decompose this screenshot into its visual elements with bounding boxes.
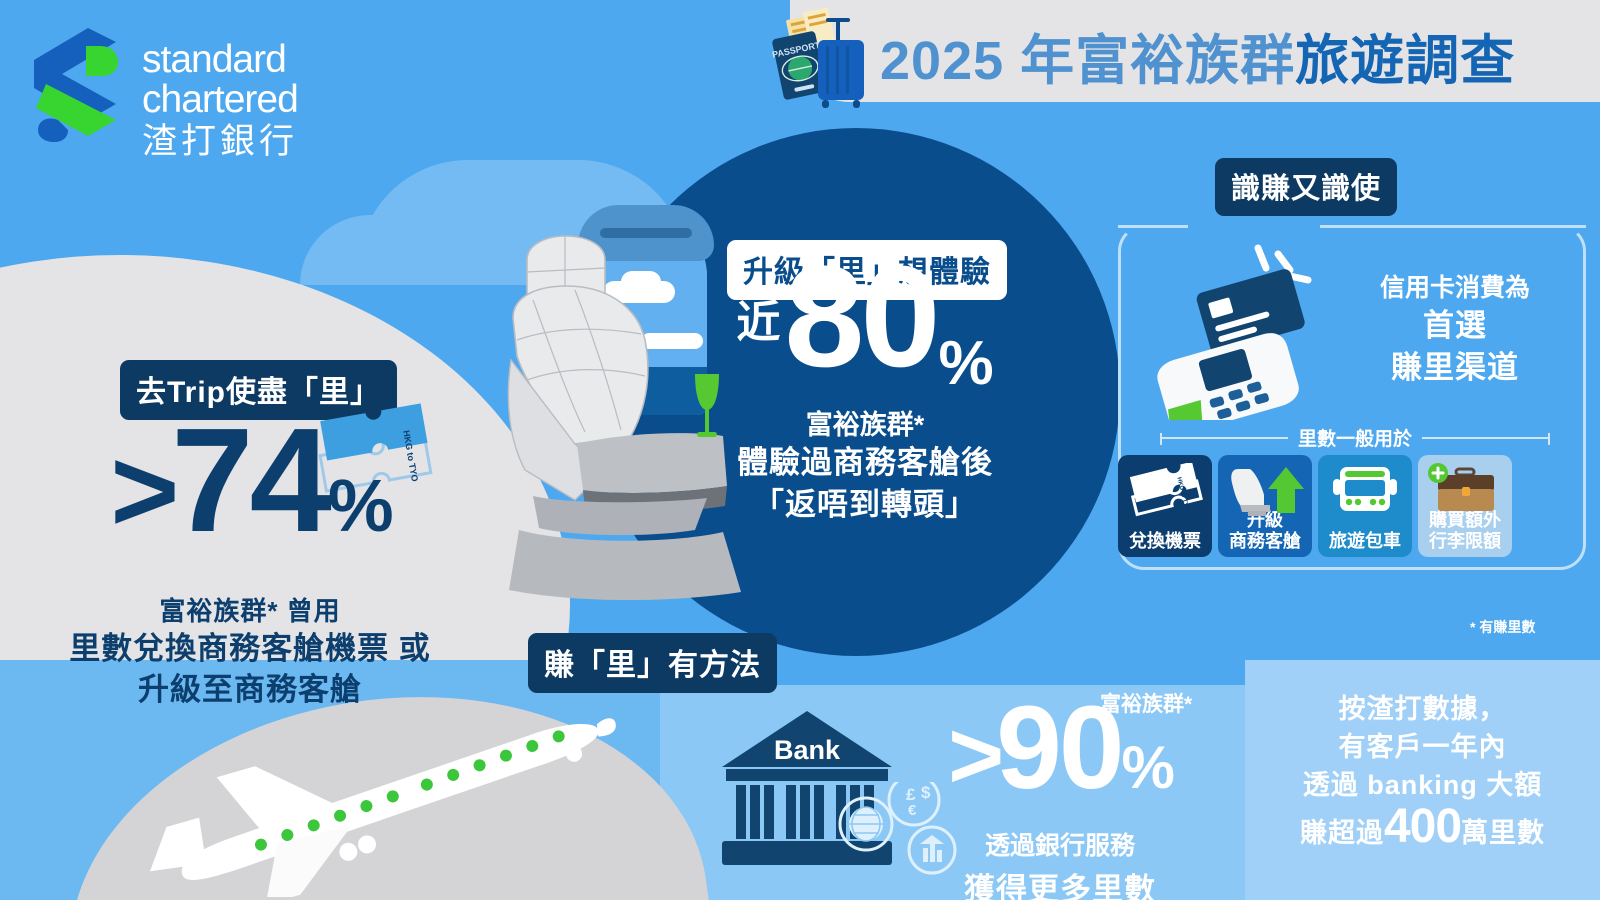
panel-top-border-right (1320, 225, 1586, 228)
right-text-line2: 首選 (1330, 305, 1580, 347)
divider-line-right (1422, 437, 1550, 439)
bottom-right-line3: 透過 banking 大額 (1250, 766, 1595, 804)
brand-logo: standard chartered 渣打銀行 (28, 24, 298, 164)
center-caption-line2: 體驗過商務客艙後 (700, 442, 1030, 484)
center-stat-number: 80 (784, 242, 936, 392)
card-seat-upgrade[interactable]: 升級 商務客艙 (1218, 455, 1312, 557)
left-stat-unit: % (328, 464, 390, 547)
left-caption-line3: 升級至商務客艙 (30, 669, 470, 710)
left-caption-line2: 里數兌換商務客艙機票 或 (30, 628, 470, 669)
card-label-line2: 商務客艙 (1229, 531, 1301, 552)
bottom-center-badge: 賺「里」有方法 (528, 633, 777, 693)
pos-terminal-icon (1140, 240, 1340, 420)
panel-top-border-left (1118, 225, 1188, 228)
center-stat-prefix: 近 (736, 286, 780, 350)
brand-name-line1: standard (142, 40, 298, 80)
bottom-caption-line1: 透過銀行服務 (900, 826, 1220, 862)
bottom-stat-number: 90 (996, 682, 1121, 814)
brand-wordmark: standard chartered 渣打銀行 (142, 24, 298, 164)
card-label-line2: 行李限額 (1429, 531, 1501, 552)
divider-line-left (1160, 437, 1288, 439)
bottom-right-line4: 賺超過400萬里數 (1250, 804, 1595, 856)
page-title-bold: 旅遊調查 (1295, 16, 1515, 95)
flight-ticket-icon: HKG to TYO (1118, 463, 1212, 517)
card-label-line1: 兌換機票 (1129, 531, 1201, 552)
page-title-regular: 2025 年富裕族群 (880, 16, 1295, 95)
center-stat-unit: % (939, 328, 994, 399)
center-caption-line3: 「返唔到轉頭」 (700, 484, 1030, 526)
miles-usage-label: 里數一般用於 (1160, 424, 1550, 451)
miles-usage-text: 里數一般用於 (1298, 424, 1412, 451)
miles-usage-cards: HKG to TYO 兌換機票 升級 商務客艙 (1118, 455, 1512, 557)
right-panel-text: 信用卡消費為 首選 賺里渠道 (1330, 272, 1580, 389)
right-text-line3: 賺里渠道 (1330, 347, 1580, 389)
brand-name-line2: chartered (142, 80, 298, 120)
bottom-right-text: 按渣打數據， 有客戶一年內 透過 banking 大額 賺超過400萬里數 (1250, 690, 1595, 856)
bottom-right-line2: 有客戶一年內 (1250, 728, 1595, 766)
standard-chartered-chevron-logo (28, 24, 120, 144)
center-stat-row: 近 80 % (700, 242, 1030, 399)
extra-baggage-icon (1418, 463, 1512, 517)
center-stat-block: 近 80 % 富裕族群* 體驗過商務客艙後 「返唔到轉頭」 (700, 238, 1030, 526)
brand-name-chinese: 渣打銀行 (142, 120, 298, 164)
left-caption-line1: 富裕族群* 曾用 (30, 591, 470, 628)
airplane-takeoff-icon (110, 712, 630, 897)
left-stat-value: >74% (30, 406, 470, 581)
card-label-line1: 旅遊包車 (1329, 531, 1401, 552)
page-title: 2025 年富裕族群 旅遊調查 (880, 24, 1580, 86)
bottom-right-line1: 按渣打數據， (1250, 690, 1595, 728)
bottom-right-line4-suffix: 萬里數 (1461, 818, 1545, 848)
footnote-text: * 有賺里數 (1470, 617, 1535, 637)
card-tour-bus[interactable]: 旅遊包車 (1318, 455, 1412, 557)
card-redeem-ticket[interactable]: HKG to TYO 兌換機票 (1118, 455, 1212, 557)
bottom-right-line4-number: 400 (1384, 800, 1461, 853)
left-stat-block: >74% 富裕族群* 曾用 里數兌換商務客艙機票 或 升級至商務客艙 (30, 358, 470, 710)
luggage-icon (812, 18, 864, 106)
tour-bus-icon (1318, 463, 1412, 517)
bottom-right-line4-prefix: 賺超過 (1300, 818, 1384, 848)
card-extra-baggage[interactable]: 購買額外 行李限額 (1418, 455, 1512, 557)
infographic-canvas: standard chartered 渣打銀行 PASSPORT (0, 0, 1600, 900)
right-text-line1: 信用卡消費為 (1330, 272, 1580, 305)
bottom-stat-block: >90% 透過銀行服務 獲得更多里數 (900, 688, 1220, 900)
seat-upgrade-arrow-icon (1218, 463, 1312, 517)
right-panel-badge: 識賺又識使 (1215, 158, 1397, 216)
bottom-stat-value: >90% (900, 688, 1220, 828)
left-stat-number: 74 (171, 398, 328, 563)
bottom-caption-line2: 獲得更多里數 (900, 864, 1220, 900)
bank-label: Bank (774, 735, 841, 765)
bottom-stat-prefix: > (948, 702, 996, 809)
bottom-stat-unit: % (1121, 734, 1171, 801)
center-caption-line1: 富裕族群* (700, 403, 1030, 442)
left-stat-prefix: > (110, 425, 171, 557)
